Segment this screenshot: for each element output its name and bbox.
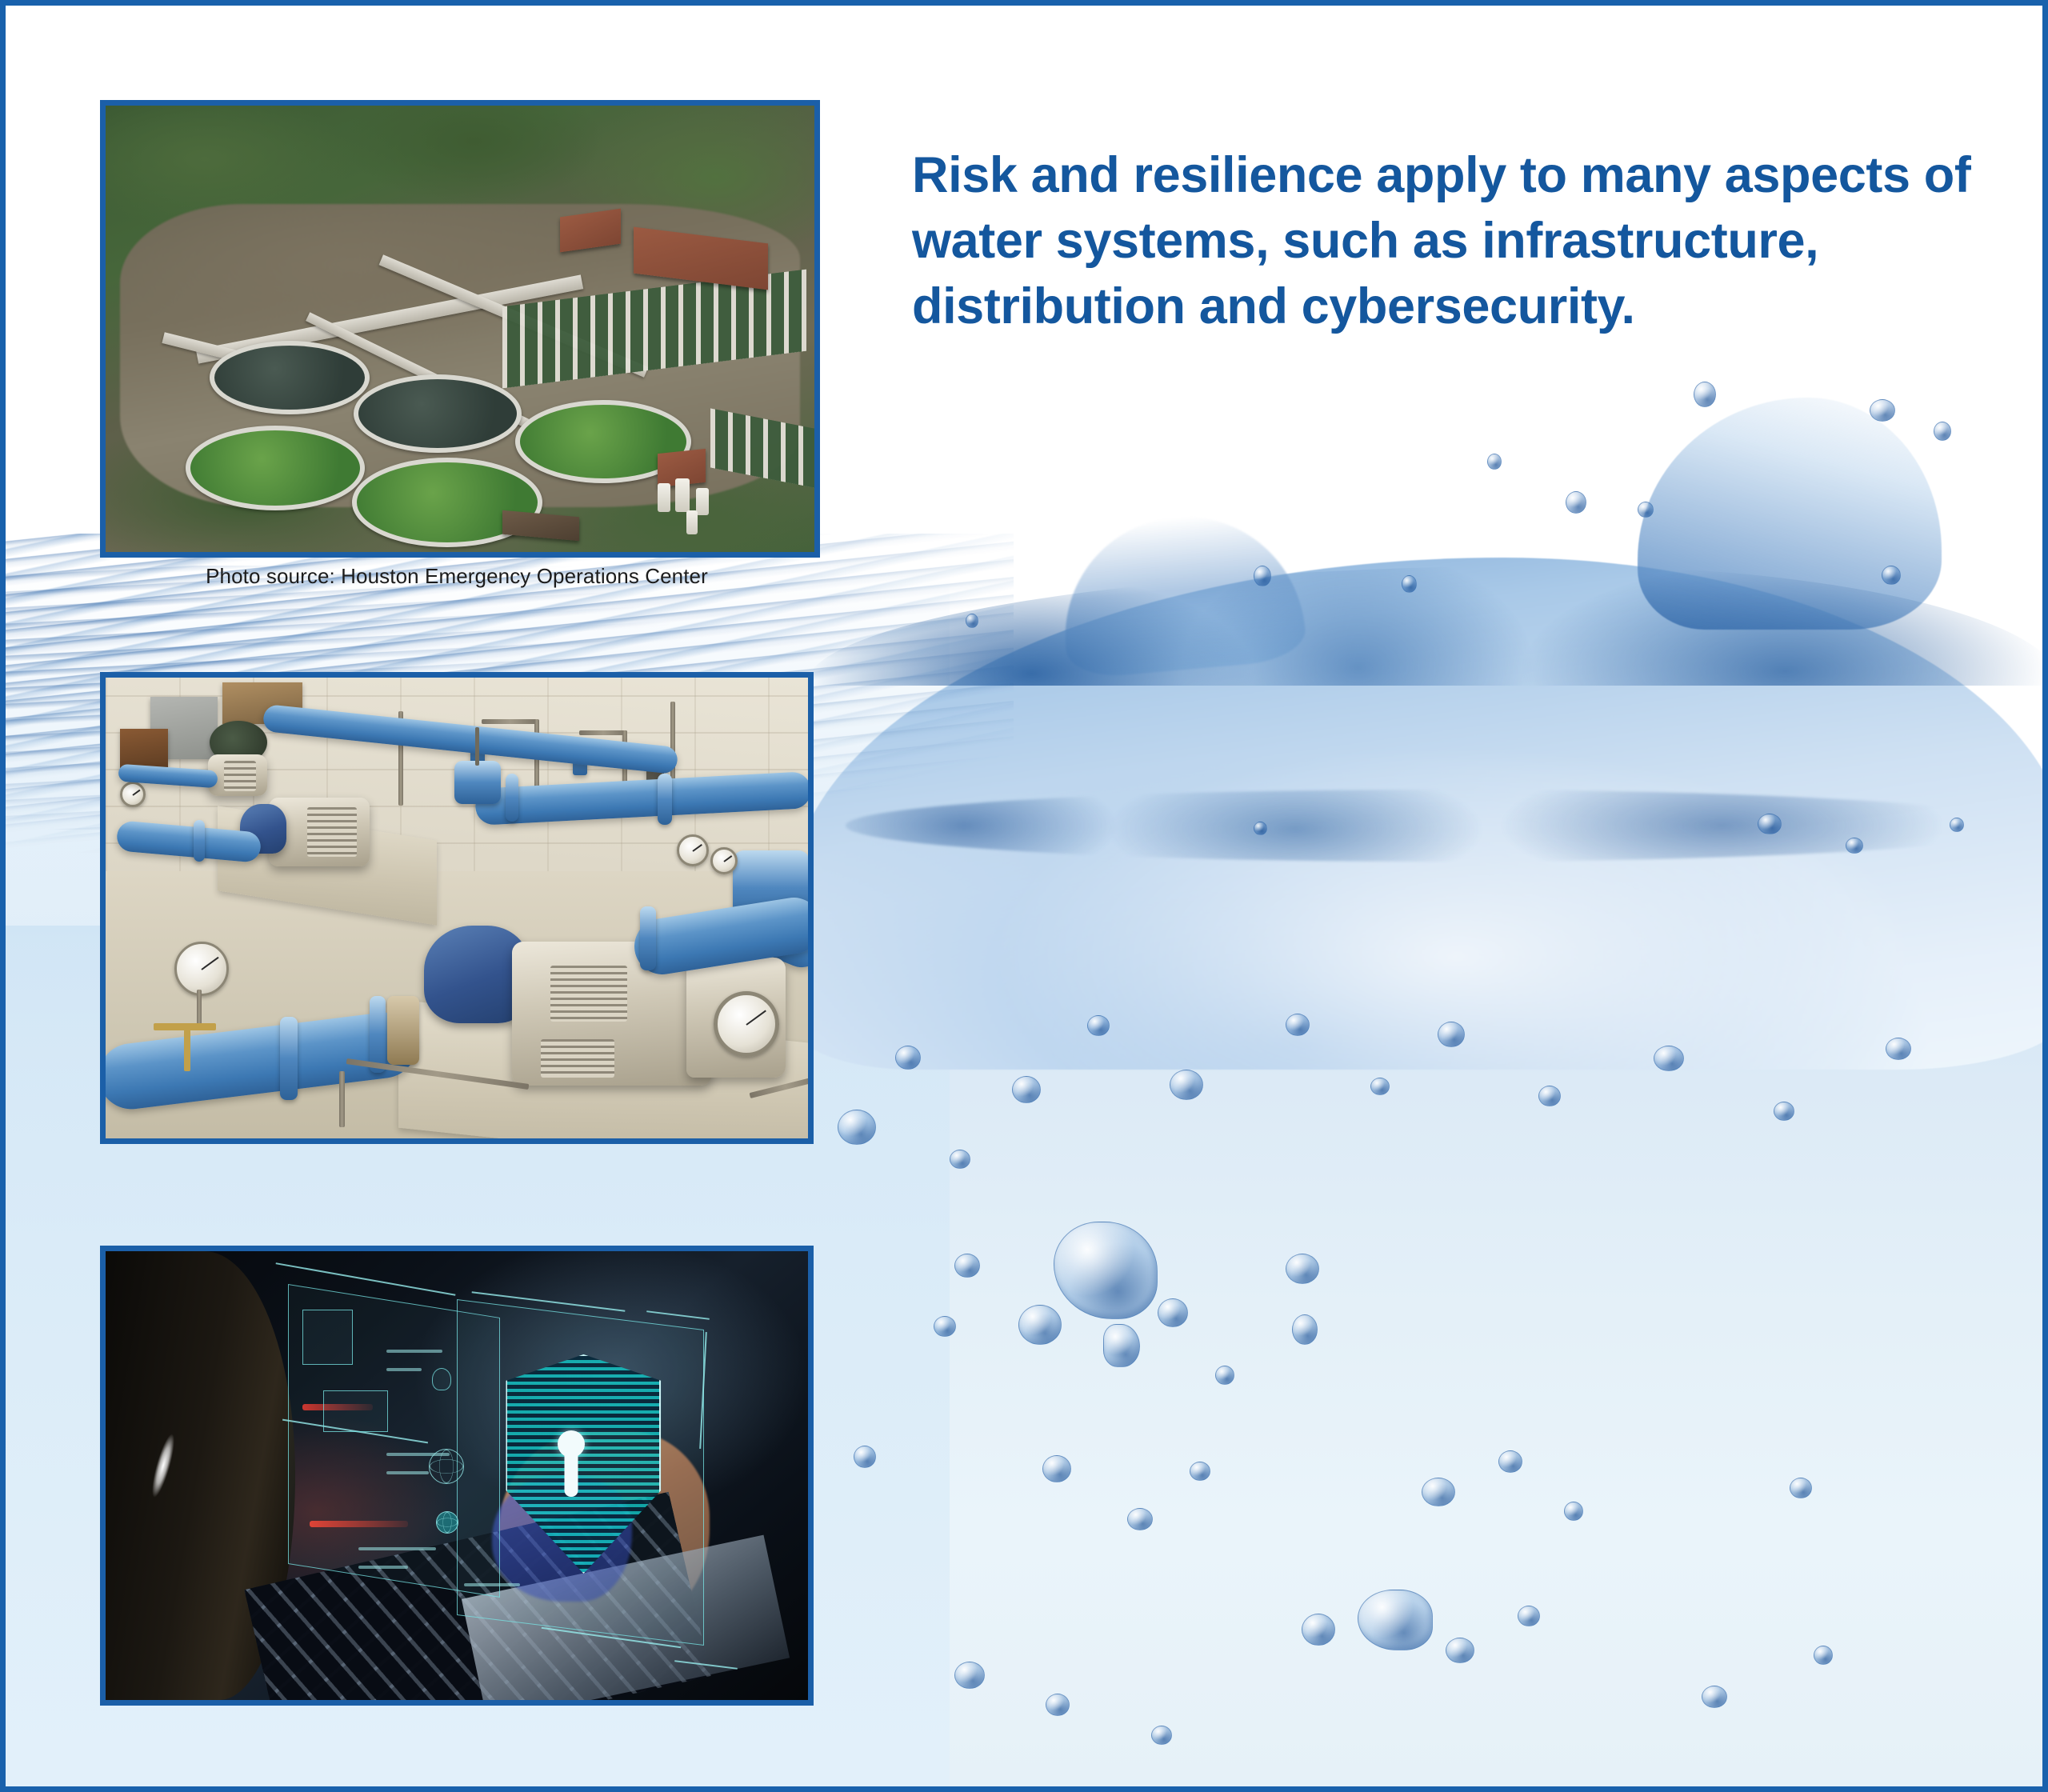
- pressure-gauge: [174, 942, 229, 996]
- hud-data-bar: [386, 1350, 442, 1353]
- underwater-bubble: [1292, 1314, 1318, 1345]
- water-droplet: [1950, 818, 1964, 832]
- underwater-bubble: [1127, 1508, 1153, 1530]
- presentation-slide: Risk and resilience apply to many aspect…: [0, 0, 2048, 1792]
- water-droplet: [1566, 491, 1586, 514]
- underwater-bubble: [1538, 1086, 1561, 1106]
- water-droplet: [1870, 399, 1895, 422]
- pipe-flange: [194, 820, 205, 862]
- water-droplet: [1882, 566, 1901, 585]
- underwater-bubble: [1302, 1614, 1335, 1646]
- underwater-bubble: [1790, 1478, 1812, 1498]
- clarifier-basin: [354, 374, 522, 453]
- pressure-gauge: [120, 782, 146, 807]
- wall-conduit: [579, 730, 627, 735]
- floor-conduit: [339, 1071, 345, 1127]
- underwater-bubble: [1886, 1038, 1911, 1060]
- pipe-flange: [658, 774, 672, 825]
- hud-data-bar: [464, 1583, 520, 1586]
- underwater-bubble: [1087, 1015, 1110, 1036]
- expansion-joint: [387, 996, 419, 1065]
- underwater-bubble: [1286, 1014, 1310, 1036]
- valve-stem: [475, 727, 479, 766]
- water-droplet: [1934, 422, 1951, 441]
- flooded-water-treatment-plant-photo: [100, 100, 820, 558]
- underwater-bubble: [1012, 1076, 1041, 1103]
- motor-cooling-vents: [224, 761, 256, 791]
- hud-shield-outline-icon: [432, 1368, 451, 1390]
- water-droplet: [1254, 822, 1267, 835]
- underwater-bubble: [1654, 1046, 1684, 1071]
- water-droplet: [1254, 566, 1271, 586]
- underwater-bubble-cluster: [1358, 1590, 1433, 1650]
- chemical-tank: [658, 483, 670, 512]
- clarifier-basin: [210, 341, 370, 414]
- water-pump-station-photo: [100, 672, 814, 1144]
- motor-end-bell: [714, 991, 779, 1057]
- clarifier-basin: [186, 426, 365, 510]
- water-droplet: [1758, 814, 1782, 834]
- underwater-bubble: [1564, 1502, 1583, 1521]
- water-droplet: [1846, 838, 1863, 854]
- motor-cooling-vents: [550, 966, 627, 1022]
- pipe-flange: [280, 1017, 298, 1100]
- pipe-flange: [640, 906, 656, 970]
- underwater-bubble: [1422, 1478, 1455, 1506]
- cybersecurity-laptop-photo: [100, 1246, 814, 1706]
- hud-alert-bar: [310, 1521, 408, 1527]
- underwater-bubble: [1774, 1102, 1794, 1121]
- hud-chart-box: [323, 1390, 388, 1432]
- underwater-bubble: [1446, 1638, 1474, 1663]
- water-droplet: [1694, 382, 1716, 407]
- gauge-valve: [184, 1030, 190, 1071]
- underwater-bubble: [950, 1150, 970, 1169]
- chemical-tank: [686, 510, 698, 534]
- water-droplet: [1487, 454, 1502, 470]
- motor-cooling-vents: [541, 1039, 614, 1078]
- underwater-bubble: [1170, 1070, 1203, 1100]
- gauge-stem: [197, 990, 202, 1028]
- water-droplet: [1638, 502, 1654, 518]
- pressure-gauge: [710, 847, 738, 874]
- wall-conduit: [482, 719, 538, 724]
- underwater-bubble: [1190, 1462, 1210, 1481]
- underwater-bubble: [1518, 1606, 1540, 1626]
- underwater-bubble: [954, 1254, 980, 1278]
- hud-data-bar: [358, 1547, 436, 1550]
- underwater-bubble: [838, 1110, 876, 1145]
- underwater-bubble: [1438, 1022, 1465, 1047]
- page-title: Risk and resilience apply to many aspect…: [912, 143, 1976, 340]
- underwater-bubble: [1286, 1254, 1319, 1284]
- pressure-gauge: [677, 834, 709, 866]
- underwater-bubble: [954, 1662, 985, 1689]
- underwater-bubble: [1046, 1694, 1070, 1716]
- underwater-bubble: [1702, 1686, 1727, 1708]
- photo-credit-caption: Photo source: Houston Emergency Operatio…: [100, 564, 814, 589]
- gate-valve-body: [454, 761, 501, 804]
- underwater-bubble: [1103, 1324, 1140, 1367]
- underwater-bubble: [854, 1446, 876, 1468]
- underwater-bubble: [1158, 1298, 1188, 1327]
- hud-data-bar: [386, 1471, 429, 1474]
- pipe-flange: [506, 774, 518, 822]
- water-droplet: [966, 614, 978, 628]
- hud-chart-box: [302, 1310, 353, 1365]
- hud-target-icon: [436, 1511, 458, 1534]
- motor-cooling-vents: [307, 807, 357, 857]
- underwater-bubble: [1018, 1305, 1062, 1345]
- underwater-bubble: [1370, 1078, 1390, 1095]
- underwater-bubble: [1151, 1726, 1172, 1745]
- hud-globe-icon: [429, 1449, 464, 1484]
- underwater-bubble: [1215, 1366, 1234, 1385]
- hud-data-bar: [358, 1566, 407, 1569]
- chemical-tank: [675, 478, 690, 512]
- underwater-bubble: [1042, 1455, 1071, 1482]
- underwater-bubble: [1814, 1646, 1833, 1665]
- chemical-tank: [696, 488, 709, 515]
- water-droplet: [1402, 575, 1417, 593]
- underwater-bubble: [934, 1316, 956, 1337]
- underwater-bubble: [1498, 1450, 1522, 1473]
- hud-data-bar: [386, 1368, 422, 1371]
- underwater-bubble: [895, 1046, 921, 1070]
